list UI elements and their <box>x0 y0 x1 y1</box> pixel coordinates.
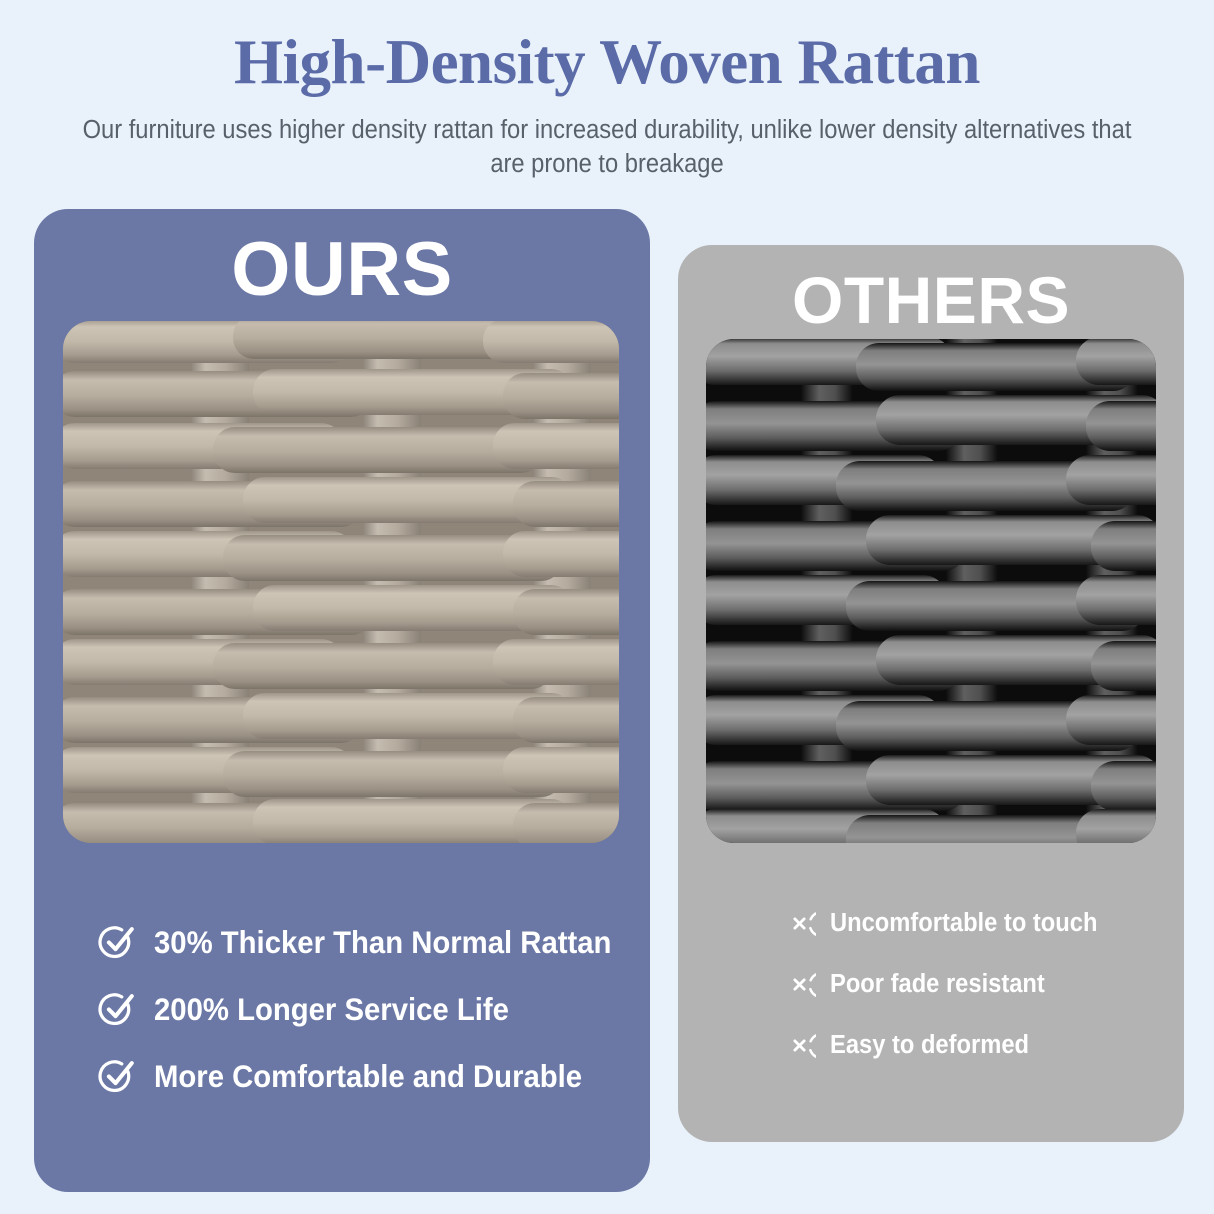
others-heading: OTHERS <box>678 245 1184 338</box>
ours-weave-graphic <box>63 321 619 843</box>
list-item-label: 30% Thicker Than Normal Rattan <box>154 924 611 961</box>
list-item-label: 200% Longer Service Life <box>154 991 509 1028</box>
list-item-label: More Comfortable and Durable <box>154 1058 582 1095</box>
ours-bullet-list: 30% Thicker Than Normal Rattan 200% Long… <box>96 921 636 1122</box>
list-item: 200% Longer Service Life <box>96 988 636 1030</box>
list-item-label: Easy to deformed <box>830 1031 1029 1060</box>
others-panel: OTHERS <box>678 245 1184 1142</box>
others-weave-graphic <box>706 339 1156 843</box>
x-circle-icon <box>783 968 816 1001</box>
ours-heading: OURS <box>34 209 650 313</box>
list-item: More Comfortable and Durable <box>96 1055 636 1097</box>
check-circle-icon <box>96 921 138 963</box>
x-circle-icon <box>783 1029 816 1062</box>
others-rattan-image <box>706 339 1156 843</box>
check-circle-icon <box>96 1055 138 1097</box>
ours-rattan-image <box>63 321 619 843</box>
list-item: Poor fade resistant <box>783 968 1183 1001</box>
list-item: 30% Thicker Than Normal Rattan <box>96 921 636 963</box>
list-item: Easy to deformed <box>783 1029 1183 1062</box>
check-circle-icon <box>96 988 138 1030</box>
x-circle-icon <box>783 907 816 940</box>
ours-panel: OURS <box>34 209 650 1192</box>
comparison-panels: OURS <box>0 0 1214 1214</box>
list-item-label: Poor fade resistant <box>830 970 1045 999</box>
list-item-label: Uncomfortable to touch <box>830 909 1097 938</box>
list-item: Uncomfortable to touch <box>783 907 1183 940</box>
others-bullet-list: Uncomfortable to touch Poor fade resista… <box>783 907 1183 1090</box>
